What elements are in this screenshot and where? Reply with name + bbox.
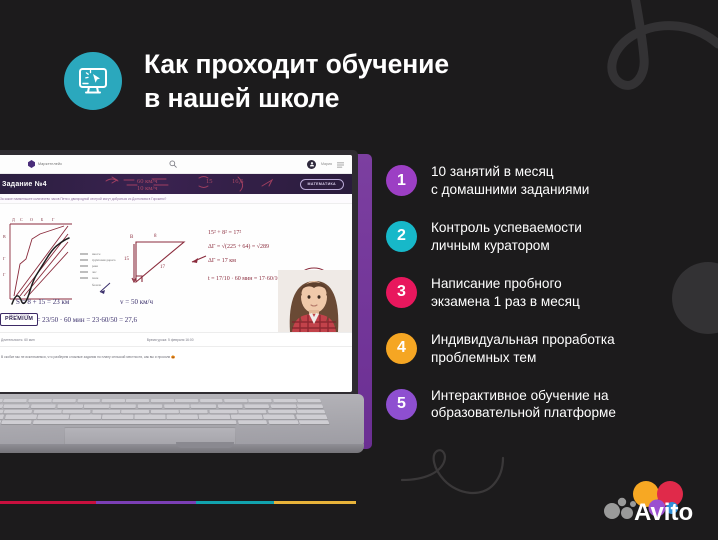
color-bar-segment — [196, 501, 274, 504]
monitor-cursor-icon — [64, 52, 122, 110]
feature-number-badge: 1 — [386, 165, 417, 196]
svg-text:В: В — [3, 234, 6, 239]
accent-color-bar — [0, 501, 356, 504]
svg-text:Д: Д — [12, 217, 15, 222]
feature-text: Интерактивное обучение на образовательно… — [431, 384, 616, 423]
svg-text:лес: лес — [92, 270, 97, 274]
svg-text:Г: Г — [3, 272, 6, 277]
list-item: 5 Интерактивное обучение на образователь… — [386, 384, 686, 423]
screen-logo-mark — [28, 160, 35, 168]
lesson-comment-text: В скобке мы не исключаемся, что разберем… — [1, 355, 345, 360]
lesson-banner: 60 км/ч 10 км/ч 15 16,6 Задание №4 МАТЕМ… — [0, 174, 352, 194]
svg-text:Г: Г — [3, 256, 6, 261]
subject-chip: МАТЕМАТИКА — [300, 179, 344, 190]
svg-text:v = 50 км/ч: v = 50 км/ч — [120, 298, 153, 306]
feature-number-badge: 2 — [386, 221, 417, 252]
svg-text:Г: Г — [52, 217, 55, 222]
lesson-meta: Длительность: 60 мин Время урока: 5 февр… — [0, 332, 352, 347]
svg-text:река: река — [92, 264, 99, 268]
laptop-base — [0, 394, 364, 460]
keyboard-row — [0, 415, 327, 419]
svg-text:С: С — [20, 217, 23, 222]
svg-text:8: 8 — [154, 234, 157, 239]
color-bar-segment — [0, 501, 96, 504]
question-strip: За какое наименьшее количество часов Пет… — [0, 194, 352, 204]
hamburger-menu-icon[interactable] — [337, 155, 344, 173]
laptop-notch — [176, 442, 234, 448]
svg-text:ΔГ = 17 км: ΔГ = 17 км — [208, 258, 236, 264]
feature-text: Написание пробного экзамена 1 раз в меся… — [431, 272, 580, 311]
list-item: 3 Написание пробного экзамена 1 раз в ме… — [386, 272, 686, 311]
keyboard-row — [0, 404, 323, 408]
lesson-time: Время урока: 5 февраля 16:00 — [147, 338, 194, 342]
color-bar-segment — [96, 501, 196, 504]
swirl-decoration-bottom — [400, 442, 550, 512]
lesson-title: Задание №4 — [2, 181, 47, 188]
avito-gray-dots — [604, 498, 636, 519]
svg-text:15² + 8² = 17²: 15² + 8² = 17² — [208, 230, 241, 236]
svg-text:16,6: 16,6 — [232, 178, 244, 185]
feature-number-badge: 3 — [386, 277, 417, 308]
keyboard-row — [0, 399, 321, 403]
features-list: 1 10 занятий в месяц с домашними задания… — [386, 160, 686, 422]
list-item: 4 Индивидуальная проработка проблемных т… — [386, 328, 686, 367]
premium-badge: МАСТЕР-ГРУППА PREMIUM — [0, 313, 38, 326]
svg-text:грунтовая дорога: грунтовая дорога — [92, 258, 116, 262]
svg-text:поле: поле — [92, 276, 99, 280]
avito-wordmark: Avito — [634, 499, 693, 526]
screen-user-name: Мария — [321, 162, 332, 166]
list-item: 1 10 занятий в месяц с домашними задания… — [386, 160, 686, 199]
laptop-screen: Маркетплейс — [0, 155, 352, 392]
screen-logo-text: Маркетплейс — [38, 162, 62, 166]
whiteboard: ДСО БГ ВГГ шоссегрунтовая дорога рекалес… — [0, 204, 352, 332]
feature-text: Контроль успеваемости личным куратором — [431, 216, 582, 255]
feature-text: 10 занятий в месяц с домашними заданиями — [431, 160, 589, 199]
question-text: За какое наименьшее количество часов Пет… — [0, 197, 166, 201]
promo-card: Как проходит обучение в нашей школе Марк… — [0, 0, 718, 540]
feature-number-badge: 4 — [386, 333, 417, 364]
screen-user-area[interactable]: Мария — [307, 155, 344, 173]
svg-text:Б: Б — [41, 217, 44, 222]
laptop-base-top — [0, 394, 364, 446]
svg-text:10 км/ч: 10 км/ч — [137, 185, 158, 192]
svg-text:ΔГ = √(225 + 64) = √289: ΔГ = √(225 + 64) = √289 — [208, 243, 269, 250]
color-bar-segment — [274, 501, 356, 504]
laptop-keyboard — [0, 399, 330, 425]
student-video-thumbnail[interactable] — [278, 270, 352, 332]
svg-text:B: B — [130, 235, 134, 240]
svg-text:шоссе: шоссе — [92, 252, 101, 256]
svg-text:15: 15 — [124, 257, 130, 262]
svg-text:15: 15 — [206, 178, 213, 185]
keyboard-row-space — [0, 420, 330, 424]
page-title: Как проходит обучение в нашей школе — [144, 48, 449, 115]
svg-text:болото: болото — [92, 283, 102, 287]
laptop-lid: Маркетплейс — [0, 150, 358, 398]
svg-text:60 км/ч: 60 км/ч — [137, 178, 158, 185]
lesson-comment: В скобке мы не исключаемся, что разберем… — [0, 347, 352, 360]
feature-text: Индивидуальная проработка проблемных тем — [431, 328, 615, 367]
lesson-duration: Длительность: 60 мин — [1, 338, 35, 342]
header: Как проходит обучение в нашей школе — [64, 48, 678, 115]
premium-badge-main: PREMIUM — [5, 317, 33, 323]
svg-text:О: О — [30, 217, 33, 222]
svg-text:S = 8 + 15 = 23 км: S = 8 + 15 = 23 км — [16, 298, 70, 306]
svg-text:17: 17 — [160, 265, 166, 270]
avito-logo: Avito — [600, 480, 704, 526]
list-item: 2 Контроль успеваемости личным куратором — [386, 216, 686, 255]
laptop-mockup: Маркетплейс — [0, 150, 388, 470]
keyboard-row — [0, 409, 325, 413]
screen-topbar: Маркетплейс — [0, 155, 352, 174]
svg-text:t = 17/10 · 60 мин = 17·60/10: t = 17/10 · 60 мин = 17·60/10 — [208, 276, 280, 282]
screen-logo[interactable]: Маркетплейс — [28, 160, 62, 168]
feature-number-badge: 5 — [386, 389, 417, 420]
user-avatar-icon[interactable] — [307, 160, 316, 169]
search-icon[interactable] — [169, 155, 177, 173]
